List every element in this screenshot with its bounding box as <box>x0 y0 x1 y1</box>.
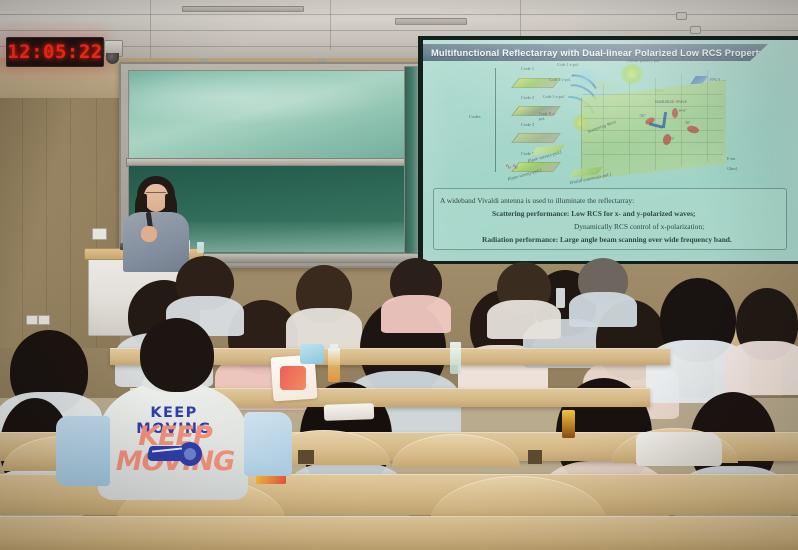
tissue-pack <box>324 403 375 421</box>
water-bottle-row <box>328 348 340 382</box>
bottle-cap <box>330 344 338 349</box>
white-cloth <box>636 432 722 466</box>
snack-bag-logo <box>280 366 306 390</box>
audience-body <box>569 292 637 327</box>
jacket-on-chair <box>56 416 110 486</box>
water-bottle-row-3 <box>556 288 565 308</box>
desk-gap-3 <box>528 450 542 464</box>
blue-pouch <box>300 344 324 364</box>
water-bottle-row-2 <box>450 342 461 374</box>
audience-body <box>381 295 452 333</box>
audience-body <box>286 308 362 352</box>
whistle-icon <box>148 440 210 470</box>
student-head-keepmoving <box>140 318 214 392</box>
jacket-on-chair-right <box>244 412 292 476</box>
desk-gap-2 <box>298 450 314 464</box>
lecture-hall-photo: 12:05:22 Multifunctional Reflectarray wi… <box>0 0 798 550</box>
audience-body <box>725 341 798 395</box>
audience-body <box>487 300 560 339</box>
drink-bottle-amber <box>562 410 575 438</box>
desk-row-nearest <box>0 516 798 550</box>
